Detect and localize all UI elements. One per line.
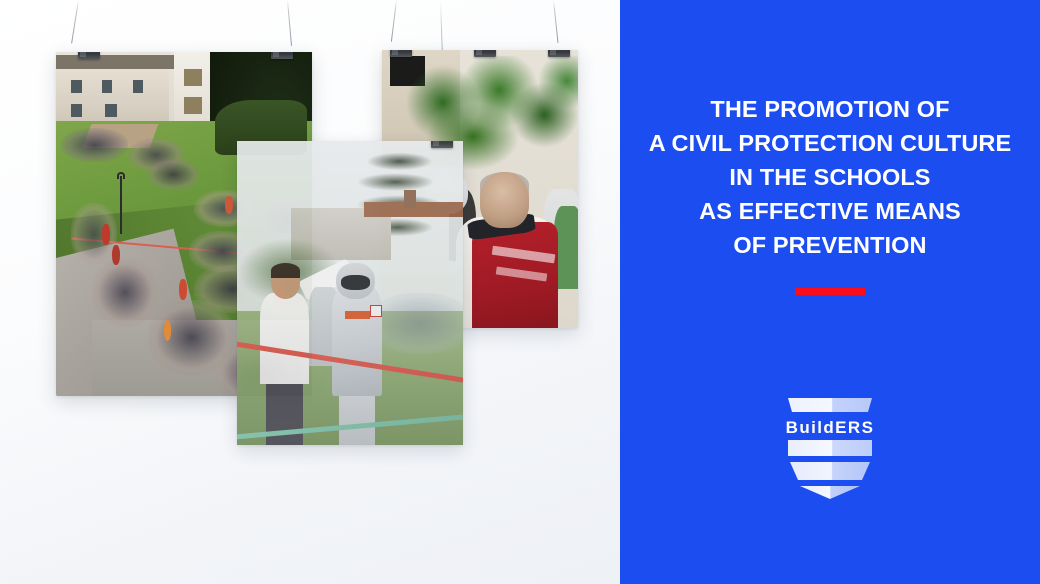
- builders-logo[interactable]: BuildERS: [782, 396, 878, 500]
- student-hair: [271, 263, 300, 278]
- binder-clip-icon: [78, 52, 100, 59]
- firefighter-visor: [341, 275, 370, 290]
- student-torso: [260, 293, 310, 384]
- hanging-wire: [71, 0, 79, 44]
- person: [179, 279, 187, 300]
- building-roof: [56, 55, 174, 69]
- suit-badge: [370, 305, 381, 317]
- window: [184, 97, 202, 114]
- page-title: THE PROMOTION OF A CIVIL PROTECTION CULT…: [620, 92, 1040, 295]
- title-line-2: A CIVIL PROTECTION CULTURE: [626, 126, 1034, 160]
- logo-wordmark: BuildERS: [782, 418, 878, 438]
- crowd-cluster: [61, 128, 128, 162]
- crowd-cluster: [92, 258, 159, 327]
- crowd-cluster: [368, 293, 463, 354]
- title-line-3: IN THE SCHOOLS: [626, 160, 1034, 194]
- crowd-cluster: [71, 203, 117, 265]
- firefighter-suit: [332, 287, 382, 396]
- photo-collage-panel: [0, 0, 620, 584]
- crowd-cluster: [148, 159, 199, 190]
- title-underline-rule: [795, 288, 865, 295]
- person: [102, 224, 110, 245]
- suit-stripe: [345, 311, 370, 318]
- hanging-wire: [287, 0, 292, 46]
- title-panel: THE PROMOTION OF A CIVIL PROTECTION CULT…: [620, 0, 1040, 584]
- binder-clip-icon: [271, 52, 293, 59]
- window: [184, 69, 202, 86]
- binder-clip-icon: [390, 50, 412, 57]
- firefighter-legs: [339, 390, 375, 445]
- title-line-1: THE PROMOTION OF: [626, 92, 1034, 126]
- responder-head: [480, 172, 529, 228]
- presentation-slide: THE PROMOTION OF A CIVIL PROTECTION CULT…: [0, 0, 1040, 584]
- photo-firefighter-demo[interactable]: [237, 141, 463, 445]
- window: [71, 104, 81, 118]
- hanging-wire: [553, 0, 558, 43]
- binder-clip-icon: [431, 141, 453, 148]
- person: [112, 245, 120, 266]
- binder-clip-icon: [474, 50, 496, 57]
- chimney: [404, 190, 415, 208]
- window: [102, 80, 112, 94]
- photo-scene: [237, 141, 463, 445]
- person: [225, 196, 233, 213]
- lamp-head: [117, 172, 125, 179]
- shield-icon: [782, 396, 878, 500]
- person: [164, 320, 172, 341]
- hanging-wire: [391, 0, 397, 42]
- title-line-4: AS EFFECTIVE MEANS: [626, 194, 1034, 228]
- binder-clip-icon: [548, 50, 570, 57]
- title-line-5: OF PREVENTION: [626, 228, 1034, 262]
- window: [133, 80, 143, 94]
- window: [71, 80, 81, 94]
- window: [105, 104, 118, 118]
- lamp-post: [120, 176, 122, 234]
